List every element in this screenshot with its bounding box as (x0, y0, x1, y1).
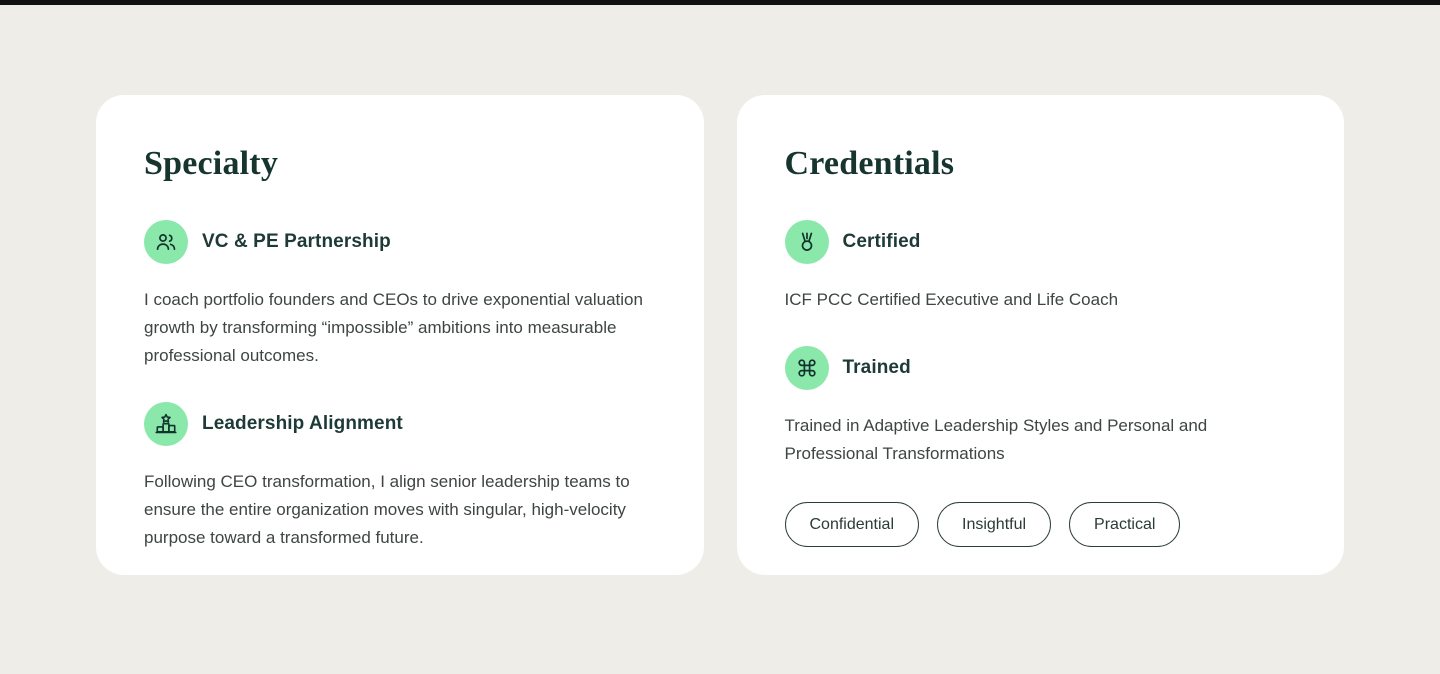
credentials-tag-list: Confidential Insightful Practical (785, 502, 1297, 547)
specialty-item-header: Leadership Alignment (144, 402, 656, 446)
specialty-card: Specialty VC & PE Partnership I coach po… (96, 95, 704, 575)
specialty-item-label: Leadership Alignment (202, 413, 403, 436)
credentials-item-description: ICF PCC Certified Executive and Life Coa… (785, 286, 1297, 314)
credentials-card-title: Credentials (785, 143, 1297, 182)
command-knot-icon (785, 346, 829, 390)
credentials-card: Credentials Certified ICF PCC Certified … (737, 95, 1345, 575)
tag-practical[interactable]: Practical (1069, 502, 1180, 547)
specialty-item-header: VC & PE Partnership (144, 220, 656, 264)
specialty-item-description: I coach portfolio founders and CEOs to d… (144, 286, 644, 370)
podium-star-icon (144, 402, 188, 446)
credentials-item-header: Certified (785, 220, 1297, 264)
credentials-item-trained: Trained Trained in Adaptive Leadership S… (785, 346, 1297, 468)
medal-icon (785, 220, 829, 264)
specialty-item-label: VC & PE Partnership (202, 231, 391, 254)
specialty-item-leadership-alignment: Leadership Alignment Following CEO trans… (144, 402, 656, 552)
tag-confidential[interactable]: Confidential (785, 502, 920, 547)
credentials-item-header: Trained (785, 346, 1297, 390)
specialty-item-vc-pe-partnership: VC & PE Partnership I coach portfolio fo… (144, 220, 656, 370)
users-icon (144, 220, 188, 264)
credentials-item-label: Certified (843, 231, 921, 254)
top-edge-strip (0, 0, 1440, 5)
credentials-item-label: Trained (843, 357, 911, 380)
specialty-card-title: Specialty (144, 143, 656, 182)
cards-container: Specialty VC & PE Partnership I coach po… (96, 95, 1344, 575)
credentials-item-description: Trained in Adaptive Leadership Styles an… (785, 412, 1285, 468)
specialty-item-description: Following CEO transformation, I align se… (144, 468, 656, 552)
credentials-item-certified: Certified ICF PCC Certified Executive an… (785, 220, 1297, 314)
tag-insightful[interactable]: Insightful (937, 502, 1051, 547)
